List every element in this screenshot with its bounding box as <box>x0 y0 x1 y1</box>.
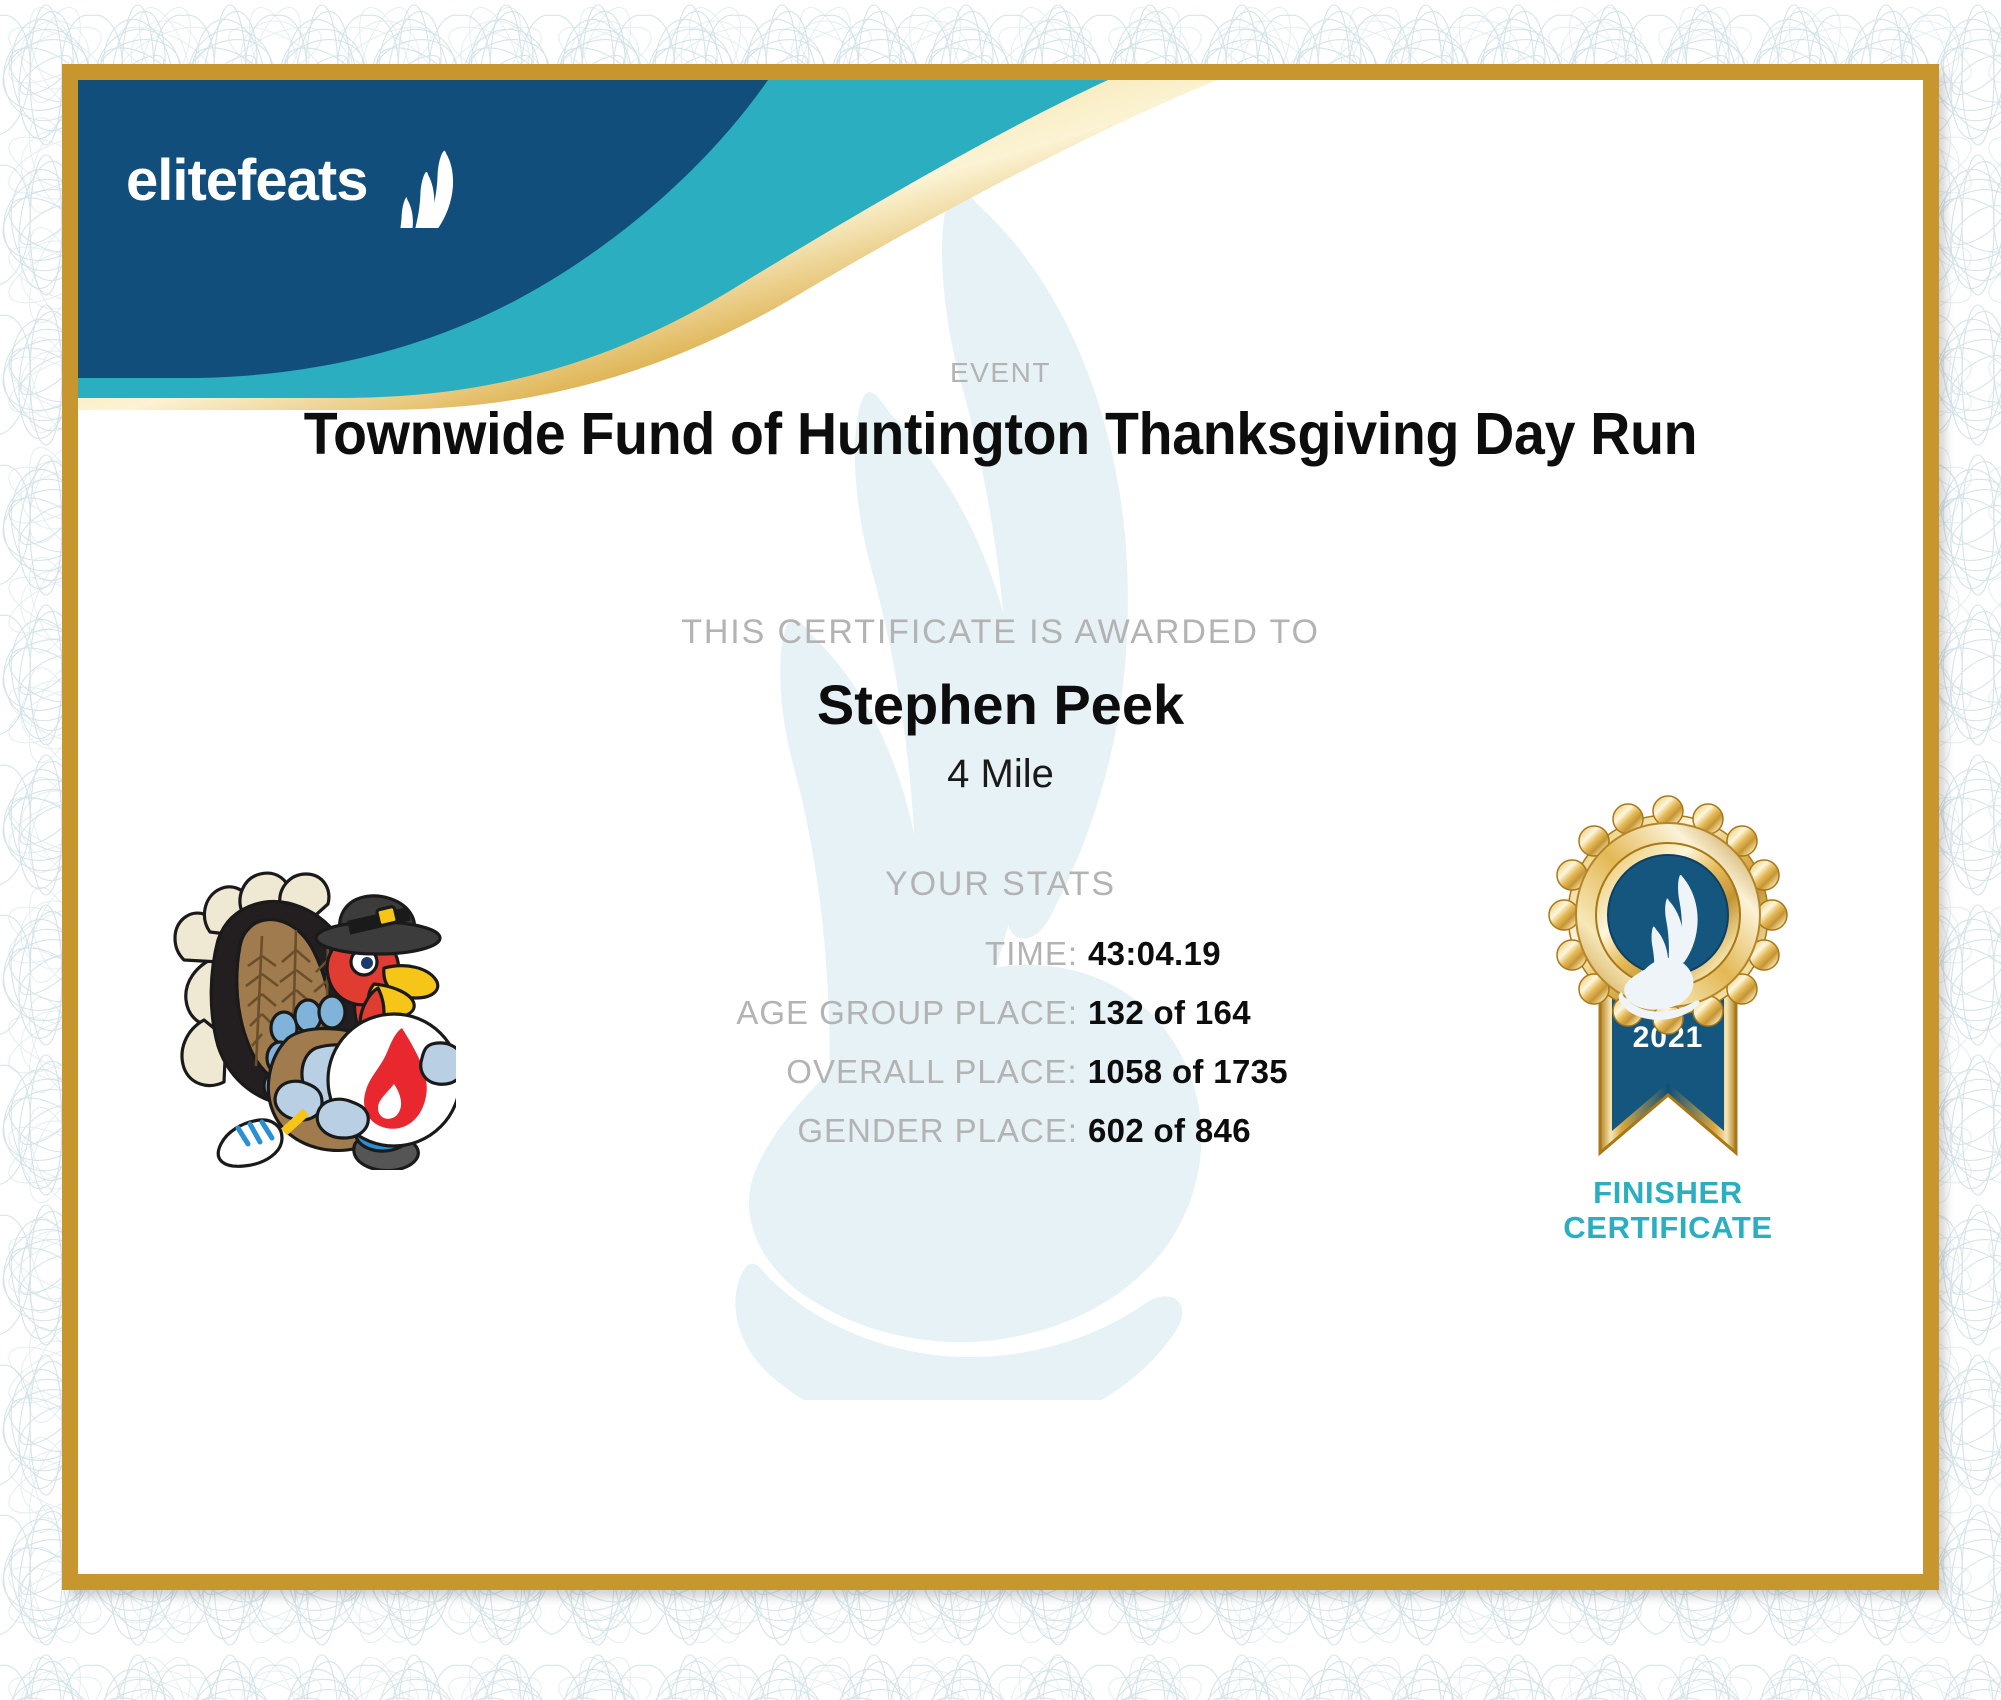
recipient-name: Stephen Peek <box>78 672 1923 737</box>
stat-label: GENDER PLACE: <box>797 1112 1078 1150</box>
finisher-medal-badge: 2021 <box>1518 795 1818 1195</box>
stat-value: 602 of 846 <box>1088 1112 1288 1150</box>
stat-label: OVERALL PLACE: <box>786 1053 1077 1091</box>
stat-label: AGE GROUP PLACE: <box>736 994 1078 1032</box>
stat-value: 132 of 164 <box>1088 994 1288 1032</box>
stat-value: 43:04.19 <box>1088 935 1288 973</box>
race-distance: 4 Mile <box>78 752 1923 797</box>
event-label: EVENT <box>78 357 1923 389</box>
finisher-caption-line1: FINISHER <box>1483 1175 1853 1210</box>
awarded-to-label: THIS CERTIFICATE IS AWARDED TO <box>78 613 1923 652</box>
finisher-caption-line2: CERTIFICATE <box>1483 1210 1853 1245</box>
certificate-frame: elitefeats EVENT Townwide Fund of Huntin… <box>62 64 1939 1590</box>
elitefeats-logo: elitefeats <box>126 142 486 228</box>
finisher-caption: FINISHER CERTIFICATE <box>1483 1175 1853 1245</box>
svg-text:elitefeats: elitefeats <box>126 148 367 213</box>
certificate-body: elitefeats EVENT Townwide Fund of Huntin… <box>78 80 1923 1574</box>
stat-value: 1058 of 1735 <box>1088 1053 1288 1091</box>
page-title: Townwide Fund of Huntington Thanksgiving… <box>133 400 1867 468</box>
stat-label: TIME: <box>985 935 1078 973</box>
running-turkey-pilgrim-icon <box>156 870 456 1170</box>
